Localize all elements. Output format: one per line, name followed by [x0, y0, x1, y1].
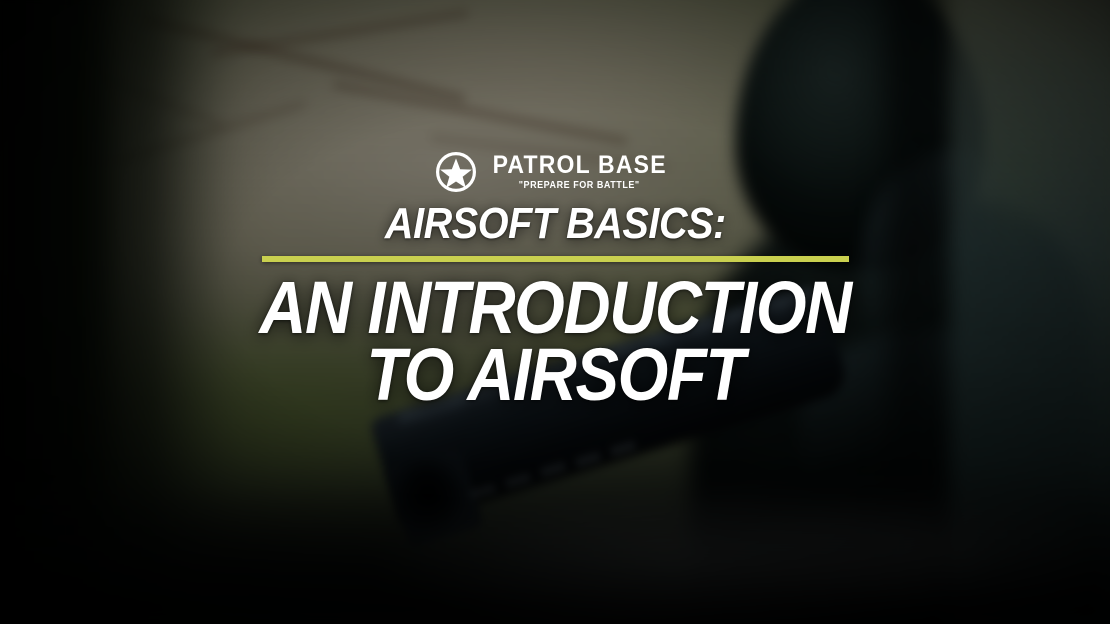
title-card: PATROL BASE "PREPARE FOR BATTLE" AIRSOFT…: [0, 0, 1110, 624]
brand-logo: PATROL BASE "PREPARE FOR BATTLE": [436, 152, 674, 192]
brand-wordmark: PATROL BASE "PREPARE FOR BATTLE": [485, 153, 674, 191]
accent-divider: [262, 256, 849, 262]
brand-name: PATROL BASE: [492, 153, 666, 178]
title-content: PATROL BASE "PREPARE FOR BATTLE" AIRSOFT…: [0, 0, 1110, 624]
title-kicker: AIRSOFT BASICS:: [385, 202, 726, 247]
title-headline: AN INTRODUCTION TO AIRSOFT: [219, 272, 891, 410]
headline-line-2: TO AIRSOFT: [259, 339, 851, 410]
circled-star-icon: [436, 152, 476, 192]
brand-tagline: "PREPARE FOR BATTLE": [519, 181, 640, 191]
